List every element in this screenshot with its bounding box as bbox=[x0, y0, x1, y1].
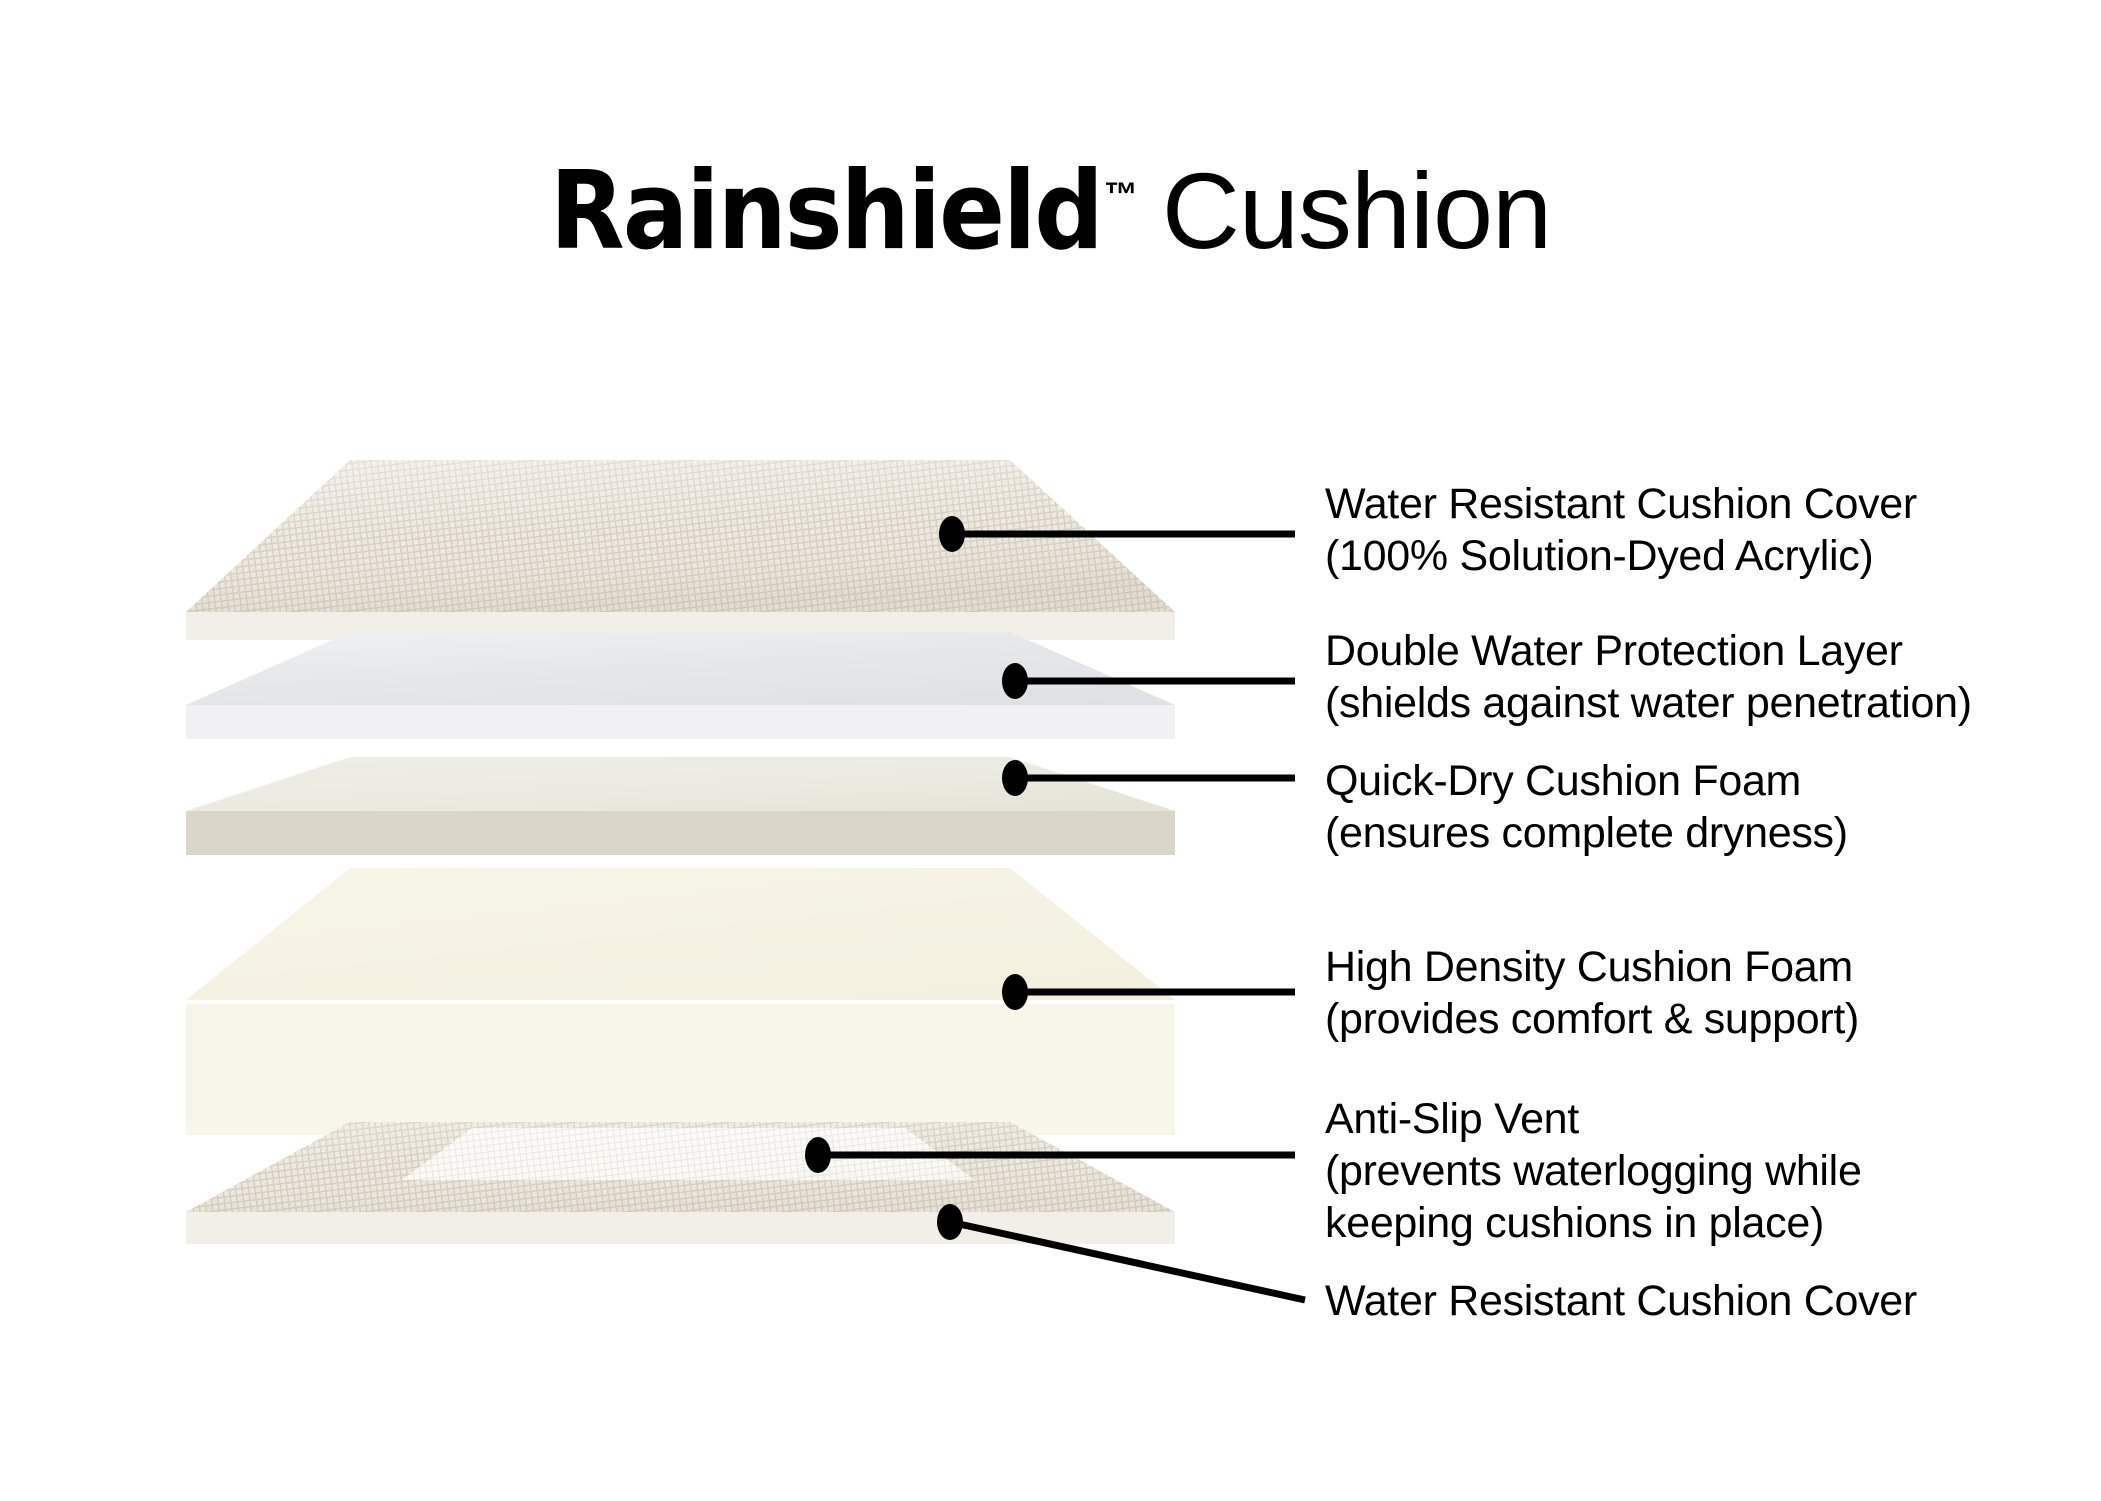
callout-dot-cover bbox=[939, 516, 965, 552]
callout-quick-dry-cushion-foam: Quick-Dry Cushion Foam (ensures complete… bbox=[1325, 755, 1848, 859]
protection-side-band bbox=[186, 705, 1175, 739]
callout-dot-anti-slip-vent bbox=[805, 1137, 831, 1173]
callout-anti-slip-vent: Anti-Slip Vent (prevents waterlogging wh… bbox=[1325, 1093, 1862, 1249]
density-edge-highlight bbox=[186, 1000, 1175, 1004]
callout-heading: Anti-Slip Vent bbox=[1325, 1093, 1862, 1145]
layer-high-density-cushion-foam bbox=[186, 868, 1175, 1135]
callout-heading: High Density Cushion Foam bbox=[1325, 941, 1859, 993]
callout-bottom-water-resistant-cushion-cover: Water Resistant Cushion Cover bbox=[1325, 1275, 1917, 1327]
callout-dot-high-density bbox=[1002, 974, 1028, 1010]
callout-dot-quickdry bbox=[1002, 760, 1028, 796]
callout-subtext-line1: (prevents waterlogging while bbox=[1325, 1145, 1862, 1197]
callout-heading: Double Water Protection Layer bbox=[1325, 625, 1972, 677]
callout-subtext-line2: keeping cushions in place) bbox=[1325, 1197, 1862, 1249]
callout-subtext: (ensures complete dryness) bbox=[1325, 807, 1848, 859]
callout-subtext: (provides comfort & support) bbox=[1325, 993, 1859, 1045]
callout-double-water-protection-layer: Double Water Protection Layer (shields a… bbox=[1325, 625, 1972, 729]
callout-dot-protection bbox=[1002, 663, 1028, 699]
callout-water-resistant-cushion-cover: Water Resistant Cushion Cover (100% Solu… bbox=[1325, 478, 1917, 582]
callout-heading: Quick-Dry Cushion Foam bbox=[1325, 755, 1848, 807]
protection-surface bbox=[186, 632, 1175, 705]
callout-high-density-cushion-foam: High Density Cushion Foam (provides comf… bbox=[1325, 941, 1859, 1045]
bottom-cover-shade bbox=[186, 1122, 1175, 1212]
quickdry-side-band bbox=[186, 811, 1175, 855]
callout-subtext: (shields against water penetration) bbox=[1325, 677, 1972, 729]
density-top-surface bbox=[186, 868, 1175, 1000]
callout-heading: Water Resistant Cushion Cover bbox=[1325, 1275, 1917, 1327]
callout-subtext: (100% Solution-Dyed Acrylic) bbox=[1325, 530, 1917, 582]
callout-dot-bottom-cover bbox=[937, 1204, 963, 1240]
density-front-face bbox=[186, 1003, 1175, 1135]
callout-heading: Water Resistant Cushion Cover bbox=[1325, 478, 1917, 530]
layer-anti-slip-vent-base bbox=[186, 1122, 1175, 1244]
layer-water-resistant-cushion-cover-top bbox=[186, 460, 1175, 640]
